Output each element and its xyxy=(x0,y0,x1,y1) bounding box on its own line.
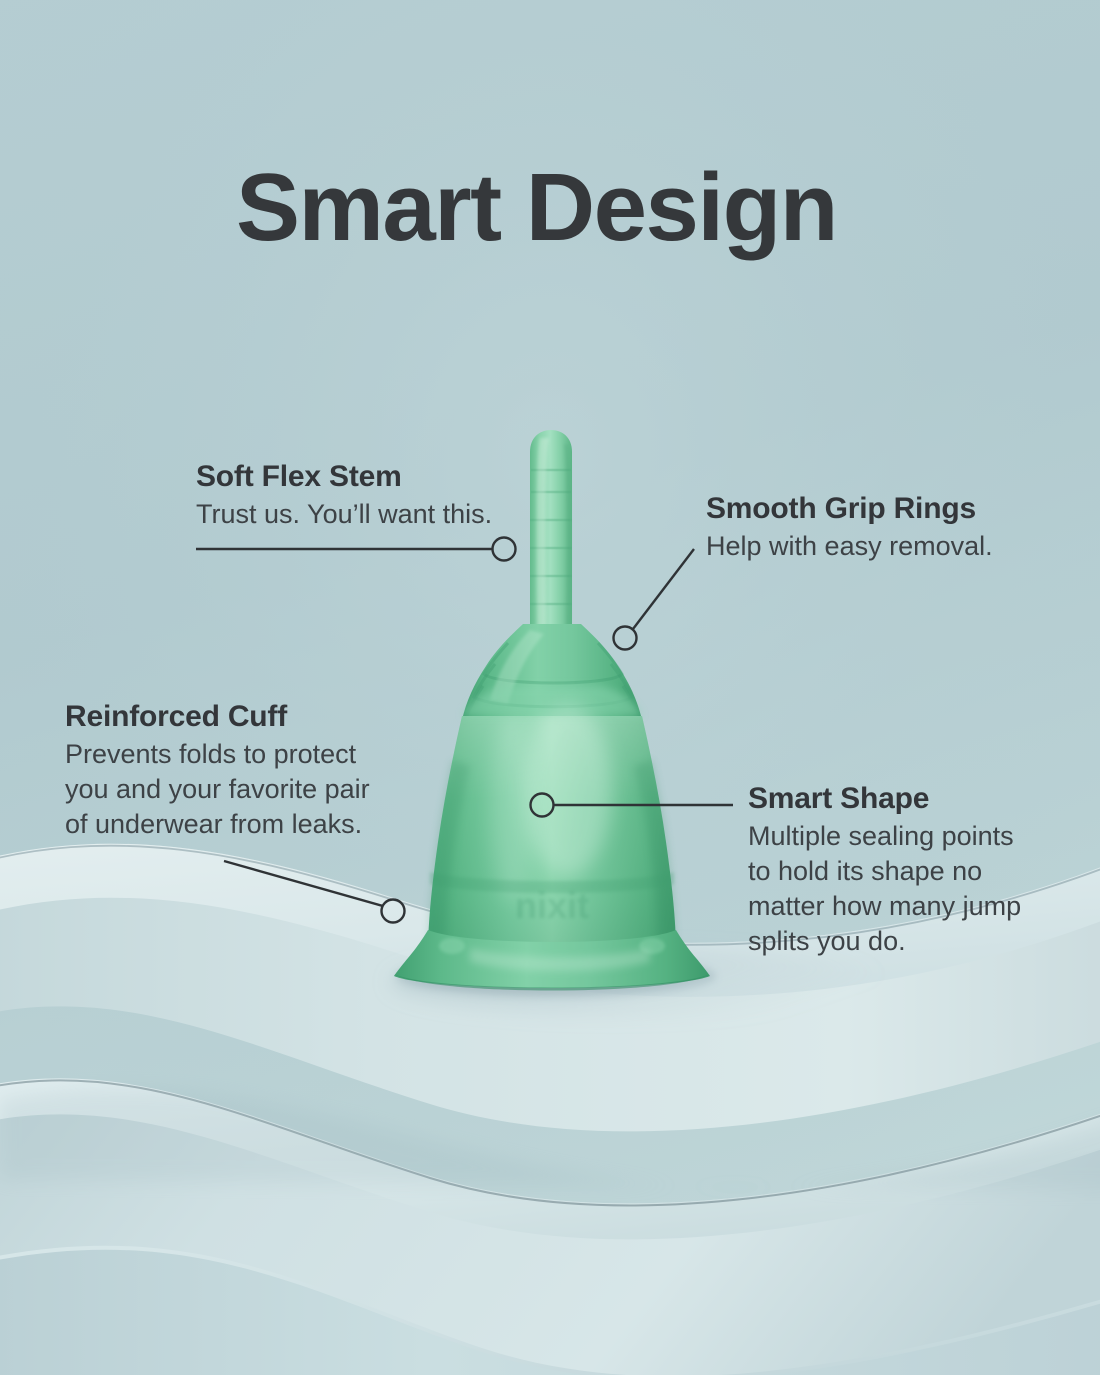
page-title: Smart Design xyxy=(236,160,936,256)
callout-body: Help with easy removal. xyxy=(706,529,1046,564)
leader-soft-flex-stem xyxy=(196,538,516,561)
callout-body-line: Multiple sealing points xyxy=(748,819,1053,854)
page-title-block: Smart Design xyxy=(236,160,936,256)
callout-title: Smart Shape xyxy=(748,782,1053,816)
callout-smooth-grip-rings: Smooth Grip Rings Help with easy removal… xyxy=(706,492,1046,564)
callout-soft-flex-stem: Soft Flex Stem Trust us. You’ll want thi… xyxy=(196,460,526,532)
callout-body-line: to hold its shape no xyxy=(748,854,1053,889)
callout-smart-shape: Smart Shape Multiple sealing points to h… xyxy=(748,782,1053,959)
callout-title: Soft Flex Stem xyxy=(196,460,526,494)
callout-body-line: Prevents folds to protect xyxy=(65,737,405,772)
callout-title: Reinforced Cuff xyxy=(65,700,405,734)
callout-body-line: matter how many jump xyxy=(748,889,1053,924)
infographic-canvas: nixit xyxy=(0,0,1100,1375)
leader-smooth-grip-rings xyxy=(614,549,695,650)
callout-body: Trust us. You’ll want this. xyxy=(196,497,526,532)
callout-body-line: splits you do. xyxy=(748,924,1053,959)
callout-reinforced-cuff: Reinforced Cuff Prevents folds to protec… xyxy=(65,700,405,842)
callout-body-line: you and your favorite pair xyxy=(65,772,405,807)
leader-smart-shape xyxy=(531,794,734,817)
callout-body-line: of underwear from leaks. xyxy=(65,807,405,842)
leader-reinforced-cuff xyxy=(224,861,405,923)
callout-title: Smooth Grip Rings xyxy=(706,492,1046,526)
